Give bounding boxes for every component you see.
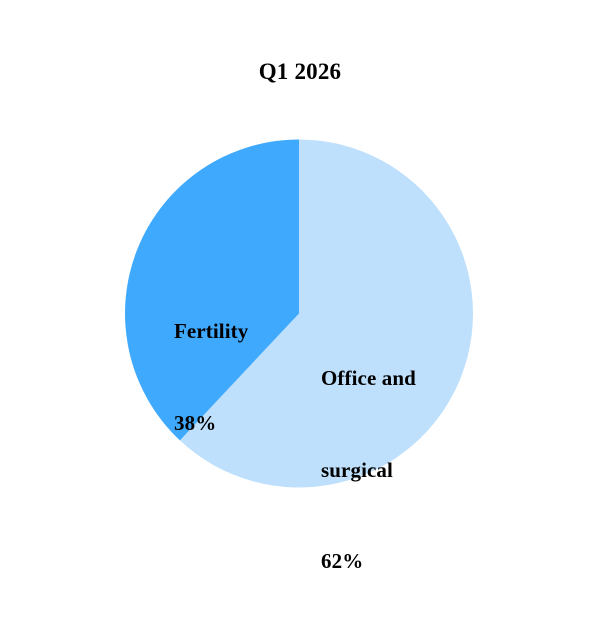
pie-label-office-name-line1: Office and <box>321 363 416 394</box>
pie-label-fertility-name: Fertility <box>174 316 248 347</box>
pie-label-fertility-percent: 38% <box>174 408 248 439</box>
pie-graphic <box>0 0 600 572</box>
pie-label-office-name-line2: surgical <box>321 455 416 486</box>
pie-label-office-and-surgical: Office and surgical 62% <box>321 302 416 638</box>
pie-label-fertility: Fertility 38% <box>174 255 248 499</box>
pie-chart: Q1 2026 Fertility 38% Office and surgica… <box>0 0 600 572</box>
